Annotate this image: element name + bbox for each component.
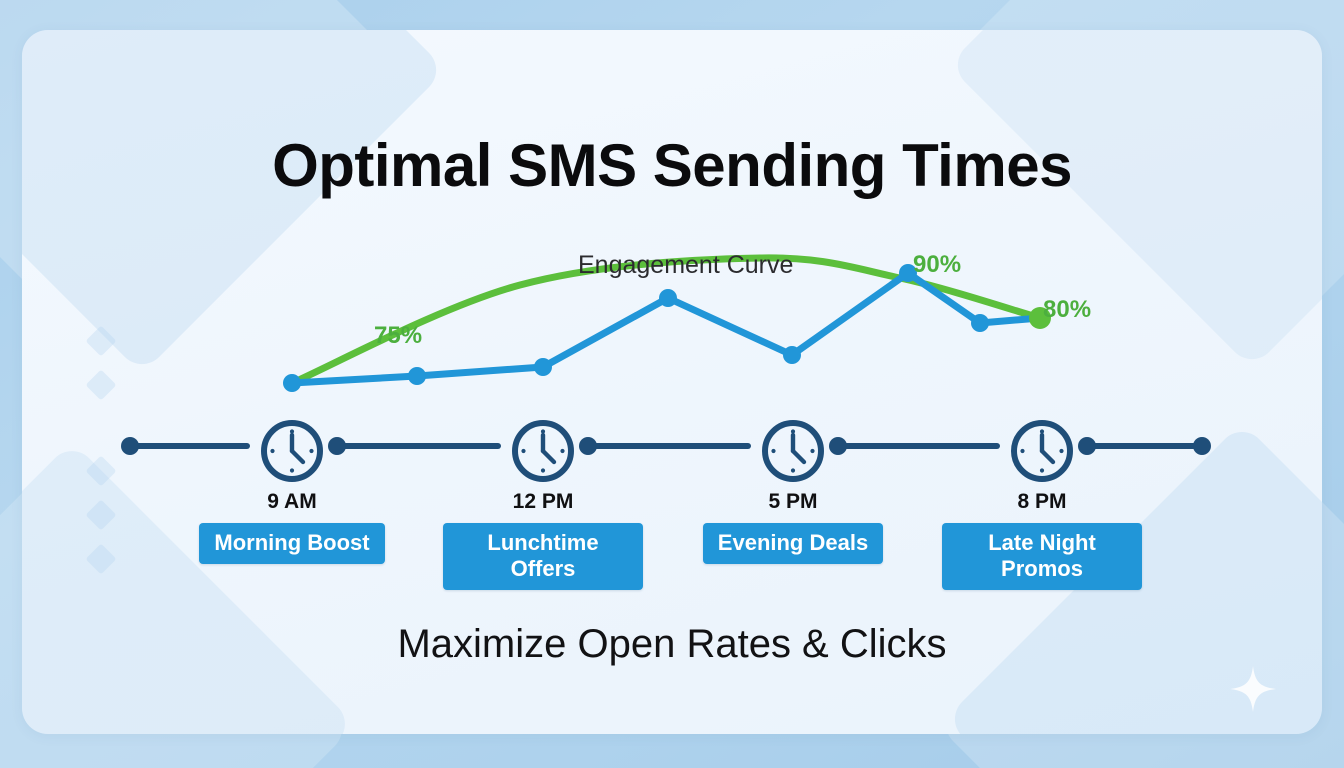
- timeline-stop-5pm[interactable]: 5 PM Evening Deals: [693, 418, 893, 564]
- clock-icon: [760, 418, 826, 484]
- timeline-badge[interactable]: Morning Boost: [199, 523, 384, 564]
- timeline-badge[interactable]: Evening Deals: [703, 523, 883, 564]
- timeline-stop-8pm[interactable]: 8 PM Late Night Promos: [942, 418, 1142, 590]
- timeline-node-dot: [121, 437, 139, 455]
- timeline-time-label: 9 AM: [192, 490, 392, 514]
- timeline-time-label: 8 PM: [942, 490, 1142, 514]
- infographic-stage: Optimal SMS Sending Times Engagement Cur…: [0, 0, 1344, 768]
- timeline-time-label: 12 PM: [443, 490, 643, 514]
- clock-icon: [1009, 418, 1075, 484]
- content-card: Optimal SMS Sending Times Engagement Cur…: [22, 30, 1322, 734]
- timeline-node-dot: [1193, 437, 1211, 455]
- timeline-badge[interactable]: Late Night Promos: [942, 523, 1142, 590]
- clock-icon: [510, 418, 576, 484]
- timeline-time-label: 5 PM: [693, 490, 893, 514]
- page-subtitle: Maximize Open Rates & Clicks: [22, 622, 1322, 667]
- timeline-stop-12pm[interactable]: 12 PM Lunchtime Offers: [443, 418, 643, 590]
- clock-icon: [259, 418, 325, 484]
- timeline-stop-9am[interactable]: 9 AM Morning Boost: [192, 418, 392, 564]
- timeline-badge[interactable]: Lunchtime Offers: [443, 523, 643, 590]
